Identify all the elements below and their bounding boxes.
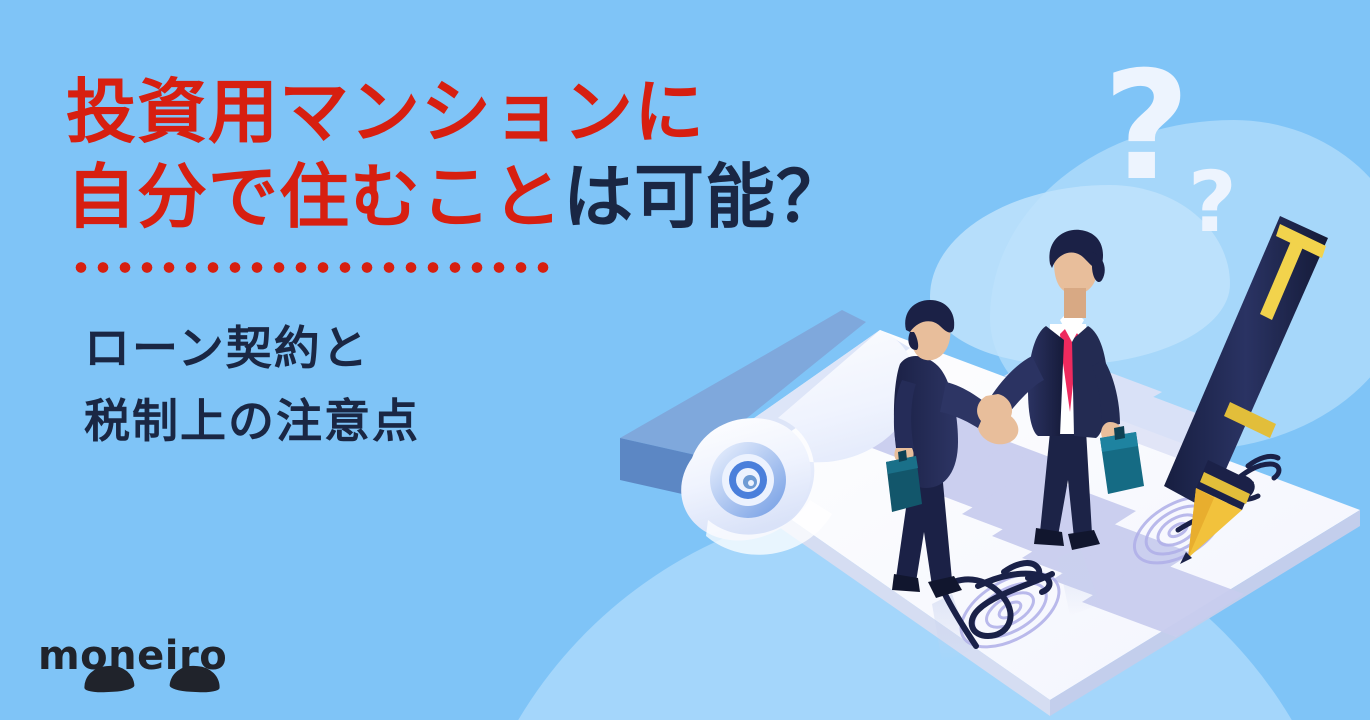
subheadline-line-1: ローン契約と — [84, 312, 420, 385]
moneiro-logo[interactable]: moneiro — [38, 636, 218, 698]
hero-banner: ? ? 投資用マンションに 自分で住むことは可能？ ローン契約と 税制上の注意点… — [0, 0, 1370, 720]
scroll-spiral-icon — [710, 442, 786, 518]
headline-line-1: 投資用マンションに — [66, 70, 896, 155]
subheadline-line-2: 税制上の注意点 — [84, 385, 420, 458]
contract-illustration — [580, 180, 1370, 720]
subheadline-block: ローン契約と 税制上の注意点 — [84, 312, 420, 457]
headline-line-2-emphasis: 自分で住むこと — [66, 156, 563, 238]
headline-dotted-underline — [70, 262, 552, 273]
